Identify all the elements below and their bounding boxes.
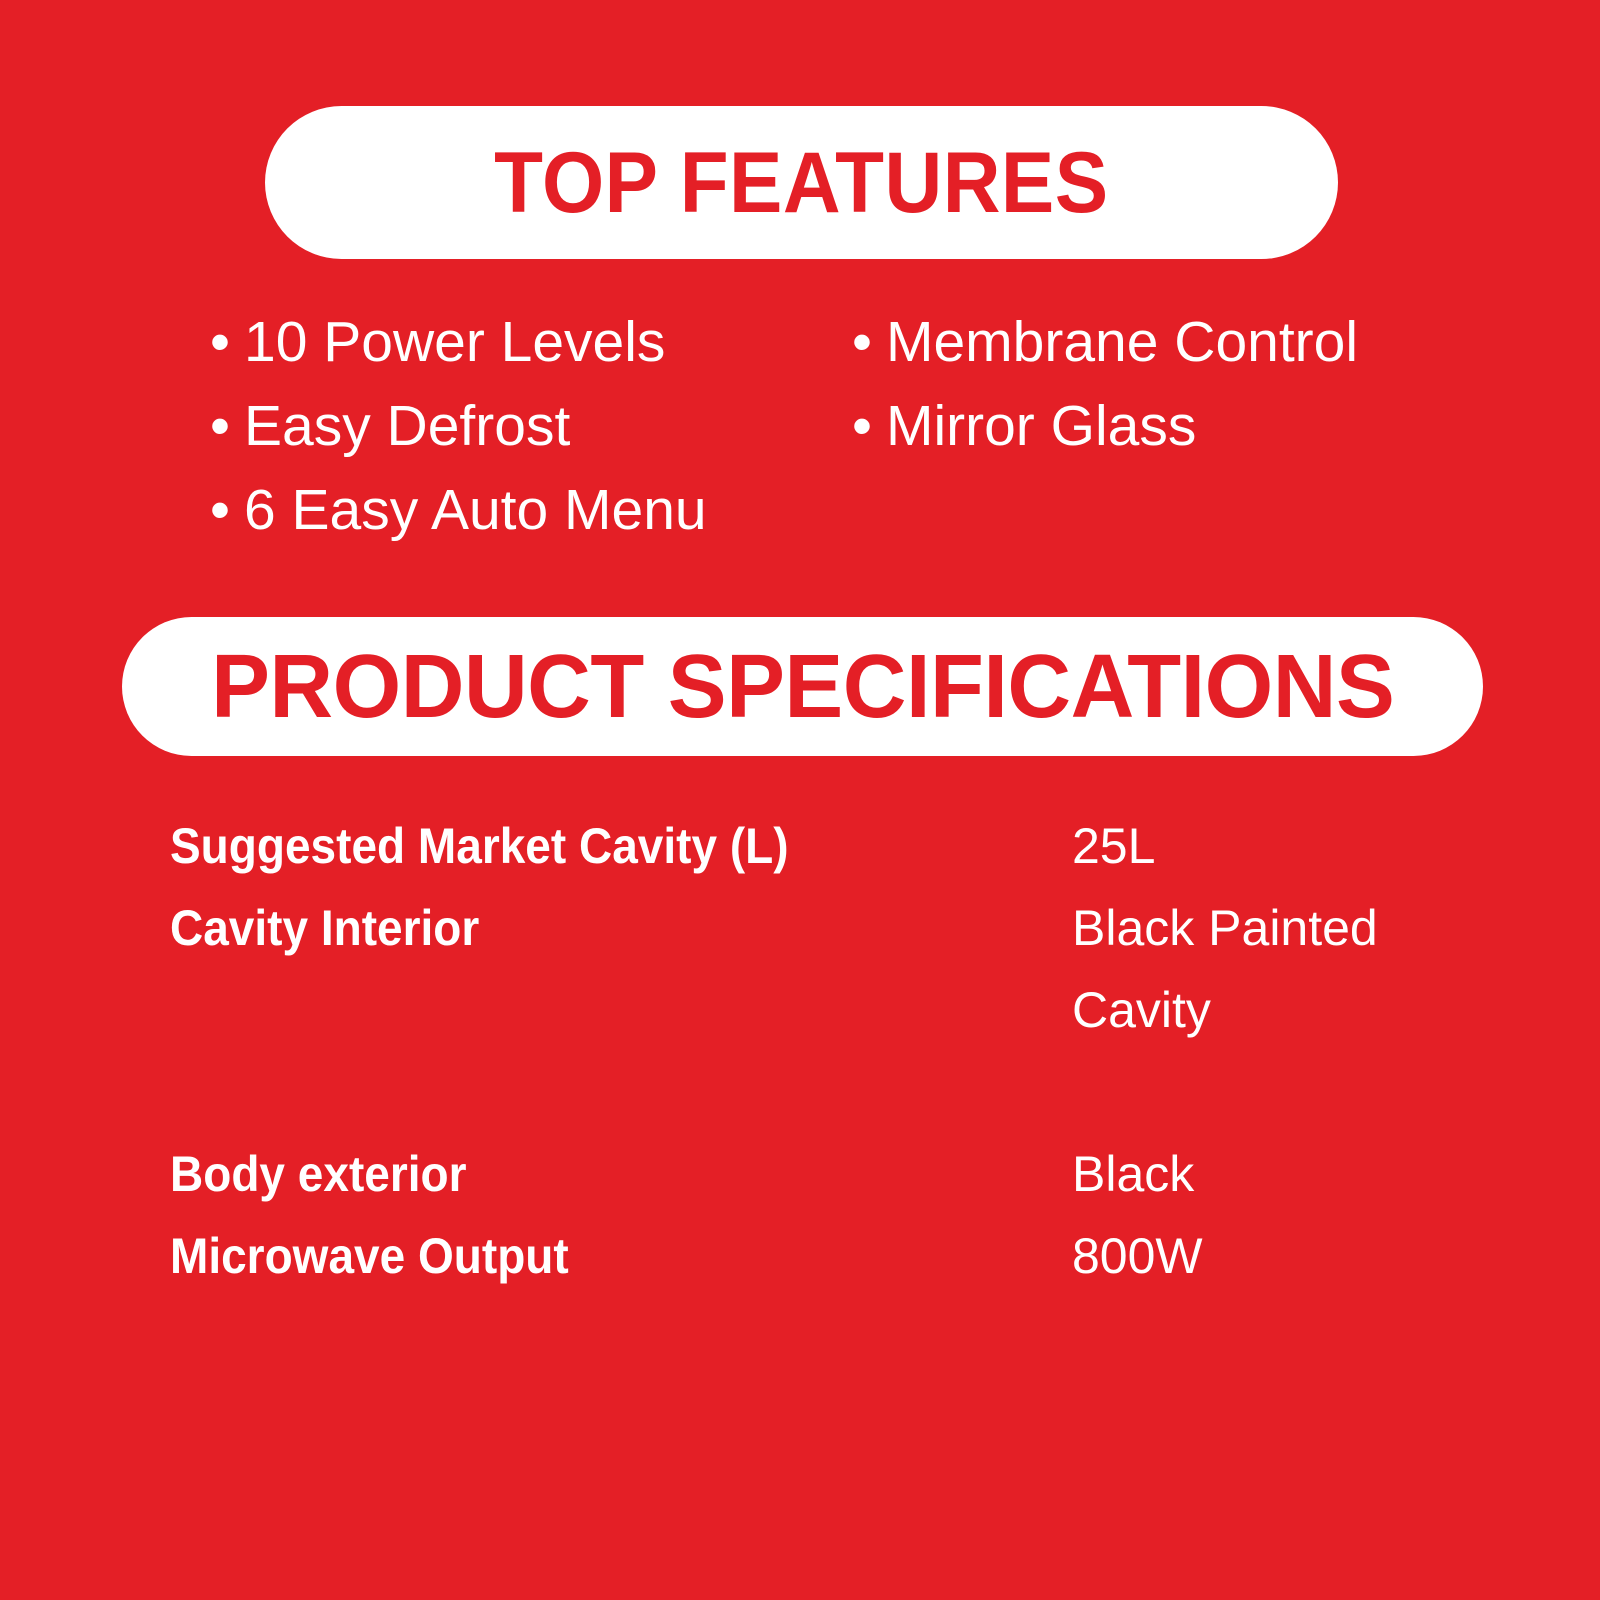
bullet-icon: • [210,384,244,468]
feature-label: 10 Power Levels [244,300,665,384]
spec-value: 25L [1072,805,1447,887]
top-features-column-right: • Membrane Control • Mirror Glass [852,300,1492,468]
product-specifications-banner: PRODUCT SPECIFICATIONS [122,617,1483,756]
top-features-list: • 10 Power Levels • Easy Defrost • 6 Eas… [0,300,1600,550]
product-specifications-banner-title: PRODUCT SPECIFICATIONS [211,642,1394,732]
bullet-icon: • [210,300,244,384]
bullet-icon: • [210,468,244,552]
table-row: Microwave Output 800W [170,1215,1490,1297]
top-features-column-left: • 10 Power Levels • Easy Defrost • 6 Eas… [210,300,850,552]
top-features-banner: TOP FEATURES [265,106,1338,259]
table-row-spacer [170,1051,1490,1133]
feature-label: Membrane Control [886,300,1358,384]
spec-label: Body exterior [170,1133,1000,1215]
feature-item: • Mirror Glass [852,384,1492,468]
spec-value: 800W [1072,1215,1447,1297]
feature-label: Mirror Glass [886,384,1196,468]
feature-item: • 10 Power Levels [210,300,850,384]
spec-label: Cavity Interior [170,887,1000,969]
product-info-card: TOP FEATURES • 10 Power Levels • Easy De… [0,0,1600,1600]
table-row: Cavity Interior Black Painted Cavity [170,887,1490,1051]
bullet-icon: • [852,384,886,468]
spec-label: Suggested Market Cavity (L) [170,805,1000,887]
feature-item: • 6 Easy Auto Menu [210,468,850,552]
feature-item: • Membrane Control [852,300,1492,384]
spec-value: Black Painted Cavity [1072,887,1447,1051]
feature-item: • Easy Defrost [210,384,850,468]
spec-label: Microwave Output [170,1215,1000,1297]
feature-label: Easy Defrost [244,384,570,468]
table-row: Body exterior Black [170,1133,1490,1215]
table-row: Suggested Market Cavity (L) 25L [170,805,1490,887]
feature-label: 6 Easy Auto Menu [244,468,707,552]
product-specifications-table: Suggested Market Cavity (L) 25L Cavity I… [170,805,1490,1297]
top-features-banner-title: TOP FEATURES [494,140,1108,226]
bullet-icon: • [852,300,886,384]
spec-value: Black [1072,1133,1447,1215]
